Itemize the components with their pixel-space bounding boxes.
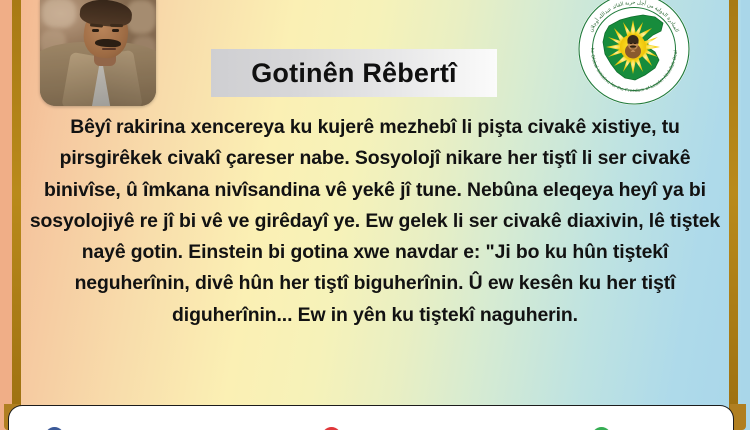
ocalan-freedom-initiative-emblem-icon: المبادرة الدولية من أجل حرية القائد عبدا… [575, 0, 693, 108]
left-edge-strip [0, 0, 12, 430]
right-gold-rail [729, 0, 738, 430]
leader-portrait-photo [40, 0, 156, 106]
portrait-sepia-overlay [40, 0, 156, 106]
page-title: Gotinên Rêbertî [251, 58, 457, 89]
quote-text: Bêyî rakirina xencereya ku kujerê mezheb… [26, 112, 724, 331]
left-gold-rail [12, 0, 21, 430]
title-band: Gotinên Rêbertî [211, 49, 497, 97]
social-footer-bar: f ▶ ✆ [8, 405, 734, 430]
right-edge-strip [741, 0, 750, 430]
quote-poster: Gotinên Rêbertî المبادرة الدولية من أجل … [0, 0, 750, 430]
